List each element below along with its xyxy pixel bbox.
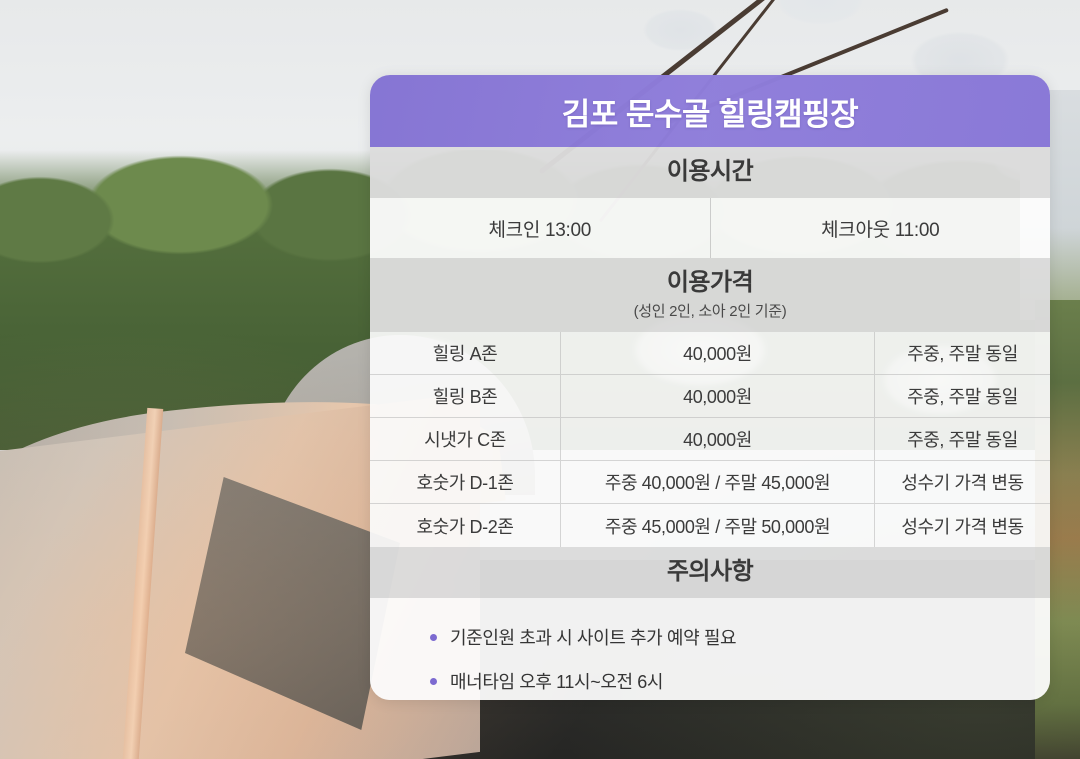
list-item: 기준인원 초과 시 사이트 추가 예약 필요 [430,624,1050,650]
notice-list: 기준인원 초과 시 사이트 추가 예약 필요 매너타임 오후 11시~오전 6시 [370,598,1050,700]
price-cell: 40,000원 [560,332,875,374]
price-cell: 40,000원 [560,375,875,417]
price-cell: 주중 45,000원 / 주말 50,000원 [560,504,875,547]
notice-text: 매너타임 오후 11시~오전 6시 [450,668,663,694]
section-header-hours: 이용시간 [370,147,1050,198]
section-header-notice: 주의사항 [370,547,1050,598]
checkin-cell: 체크인 13:00 [370,198,710,258]
page-title: 김포 문수골 힐링캠핑장 [562,89,858,134]
note-cell: 주중, 주말 동일 [875,375,1050,417]
hours-heading: 이용시간 [370,157,1050,187]
table-row: 호숫가 D-1존 주중 40,000원 / 주말 45,000원 성수기 가격 … [370,461,1050,504]
notice-text: 기준인원 초과 시 사이트 추가 예약 필요 [450,624,736,650]
zone-cell: 시냇가 C존 [370,418,560,460]
bullet-icon [430,634,437,641]
pricing-heading: 이용가격 [370,268,1050,298]
zone-cell: 호숫가 D-1존 [370,461,560,503]
zone-cell: 호숫가 D-2존 [370,504,560,547]
price-cell: 40,000원 [560,418,875,460]
zone-cell: 힐링 B존 [370,375,560,417]
note-cell: 주중, 주말 동일 [875,418,1050,460]
camping-info-card: 김포 문수골 힐링캠핑장 이용시간 체크인 13:00 체크아웃 11:00 이… [370,75,1050,700]
card-title-bar: 김포 문수골 힐링캠핑장 [370,75,1050,147]
table-row: 힐링 B존 40,000원 주중, 주말 동일 [370,375,1050,418]
hours-row: 체크인 13:00 체크아웃 11:00 [370,198,1050,258]
table-row: 시냇가 C존 40,000원 주중, 주말 동일 [370,418,1050,461]
note-cell: 성수기 가격 변동 [875,461,1050,503]
pricing-table: 힐링 A존 40,000원 주중, 주말 동일 힐링 B존 40,000원 주중… [370,332,1050,547]
notice-heading: 주의사항 [370,557,1050,587]
checkout-cell: 체크아웃 11:00 [710,198,1051,258]
pricing-subheading: (성인 2인, 소아 2인 기준) [370,300,1050,321]
bullet-icon [430,678,437,685]
price-cell: 주중 40,000원 / 주말 45,000원 [560,461,875,503]
table-row: 힐링 A존 40,000원 주중, 주말 동일 [370,332,1050,375]
note-cell: 성수기 가격 변동 [875,504,1050,547]
zone-cell: 힐링 A존 [370,332,560,374]
note-cell: 주중, 주말 동일 [875,332,1050,374]
section-header-pricing: 이용가격 (성인 2인, 소아 2인 기준) [370,258,1050,332]
table-row: 호숫가 D-2존 주중 45,000원 / 주말 50,000원 성수기 가격 … [370,504,1050,547]
list-item: 매너타임 오후 11시~오전 6시 [430,668,1050,694]
